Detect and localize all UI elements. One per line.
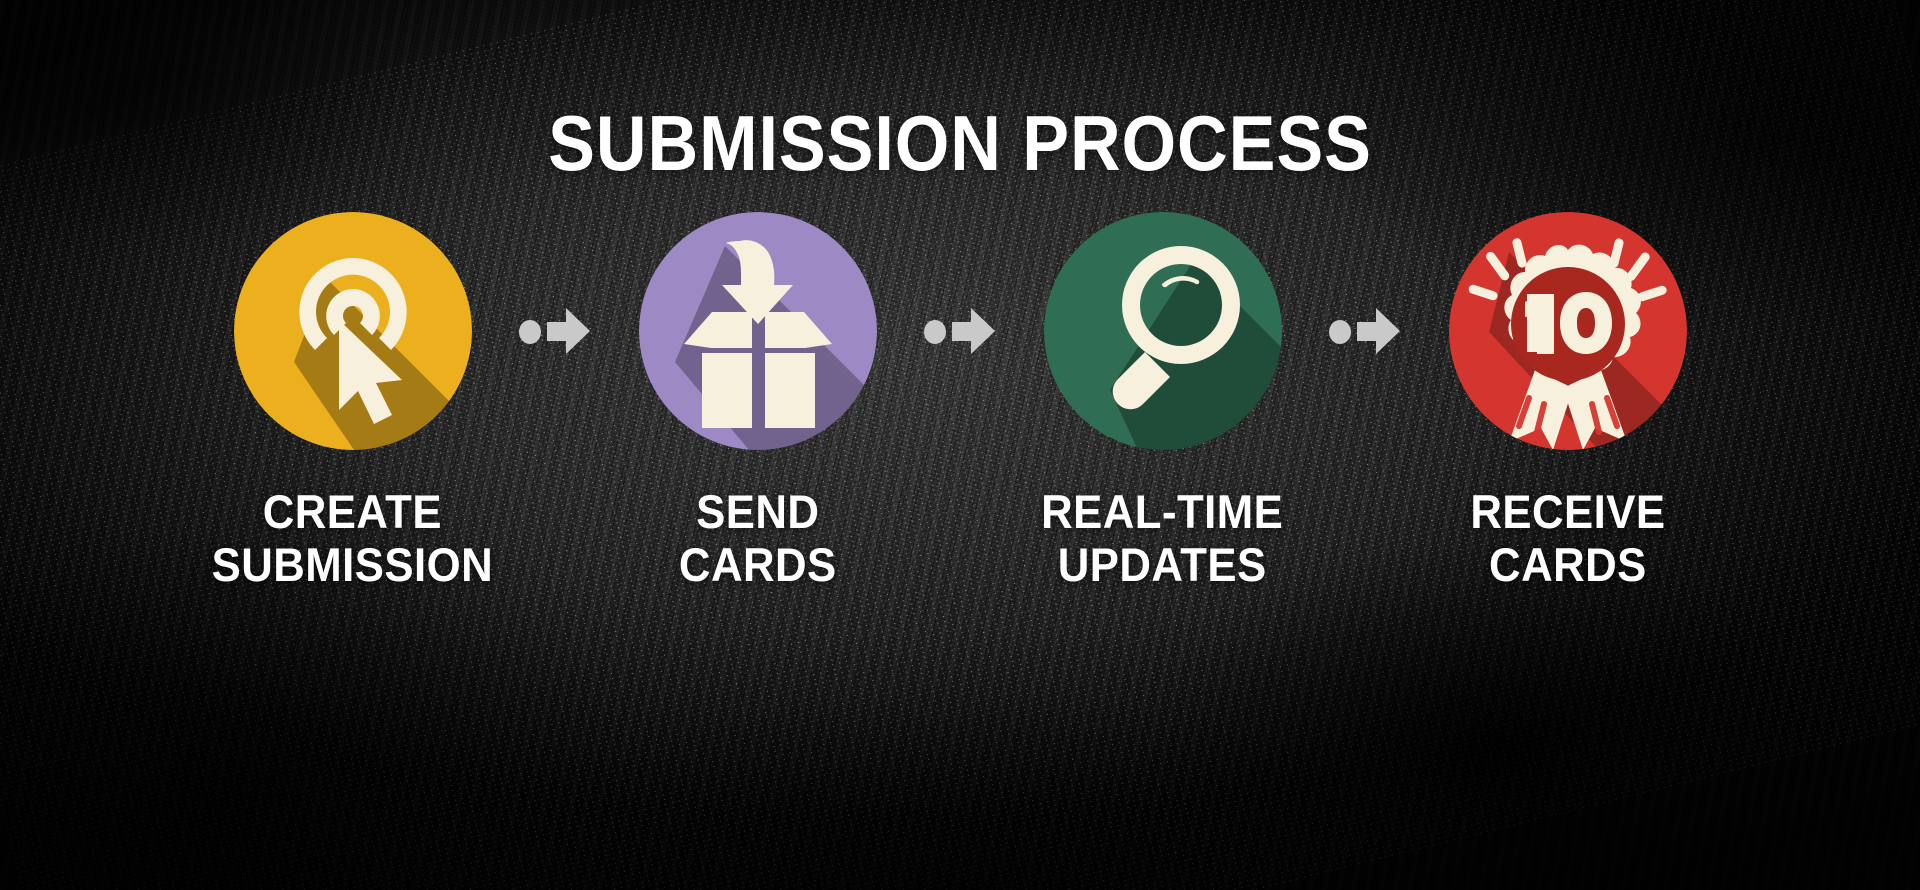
separator-3 (1313, 212, 1418, 450)
step-3-icon-disc[interactable] (1044, 212, 1282, 450)
step-4-label: RECEIVE CARDS (1470, 486, 1665, 591)
open-box-icon (639, 212, 877, 450)
step-1-label: CREATE SUBMISSION (212, 486, 494, 591)
magnifier-icon (1044, 212, 1282, 450)
step-3-label-line2: UPDATES (1041, 539, 1283, 592)
award-ribbon-icon (1449, 212, 1687, 450)
step-3-label-line1: REAL-TIME (1041, 485, 1283, 538)
step-create-submission[interactable]: CREATE SUBMISSION (203, 212, 503, 591)
step-2-label: SEND CARDS (679, 486, 837, 591)
dot-arrow-right-icon (519, 305, 591, 357)
page-title: SUBMISSION PROCESS (96, 104, 1824, 182)
dot-arrow-right-icon (1329, 305, 1401, 357)
separator-1 (503, 212, 608, 450)
step-1-label-line2: SUBMISSION (212, 539, 494, 592)
step-2-label-line1: SEND (696, 485, 819, 538)
step-1-icon-disc[interactable] (234, 212, 472, 450)
infographic-canvas: SUBMISSION PROCESS (0, 0, 1920, 890)
separator-2 (908, 212, 1013, 450)
step-4-label-line2: CARDS (1470, 539, 1665, 592)
step-3-label: REAL-TIME UPDATES (1041, 486, 1283, 591)
dot-arrow-right-icon (924, 305, 996, 357)
step-2-icon-disc[interactable] (639, 212, 877, 450)
step-1-label-line1: CREATE (263, 485, 442, 538)
step-receive-cards[interactable]: RECEIVE CARDS (1418, 212, 1718, 591)
process-steps-row: CREATE SUBMISSION (0, 212, 1920, 591)
step-4-label-line1: RECEIVE (1470, 485, 1665, 538)
click-cursor-icon (234, 212, 472, 450)
step-4-icon-disc[interactable] (1449, 212, 1687, 450)
step-real-time-updates[interactable]: REAL-TIME UPDATES (1013, 212, 1313, 591)
step-2-label-line2: CARDS (679, 539, 837, 592)
step-send-cards[interactable]: SEND CARDS (608, 212, 908, 591)
